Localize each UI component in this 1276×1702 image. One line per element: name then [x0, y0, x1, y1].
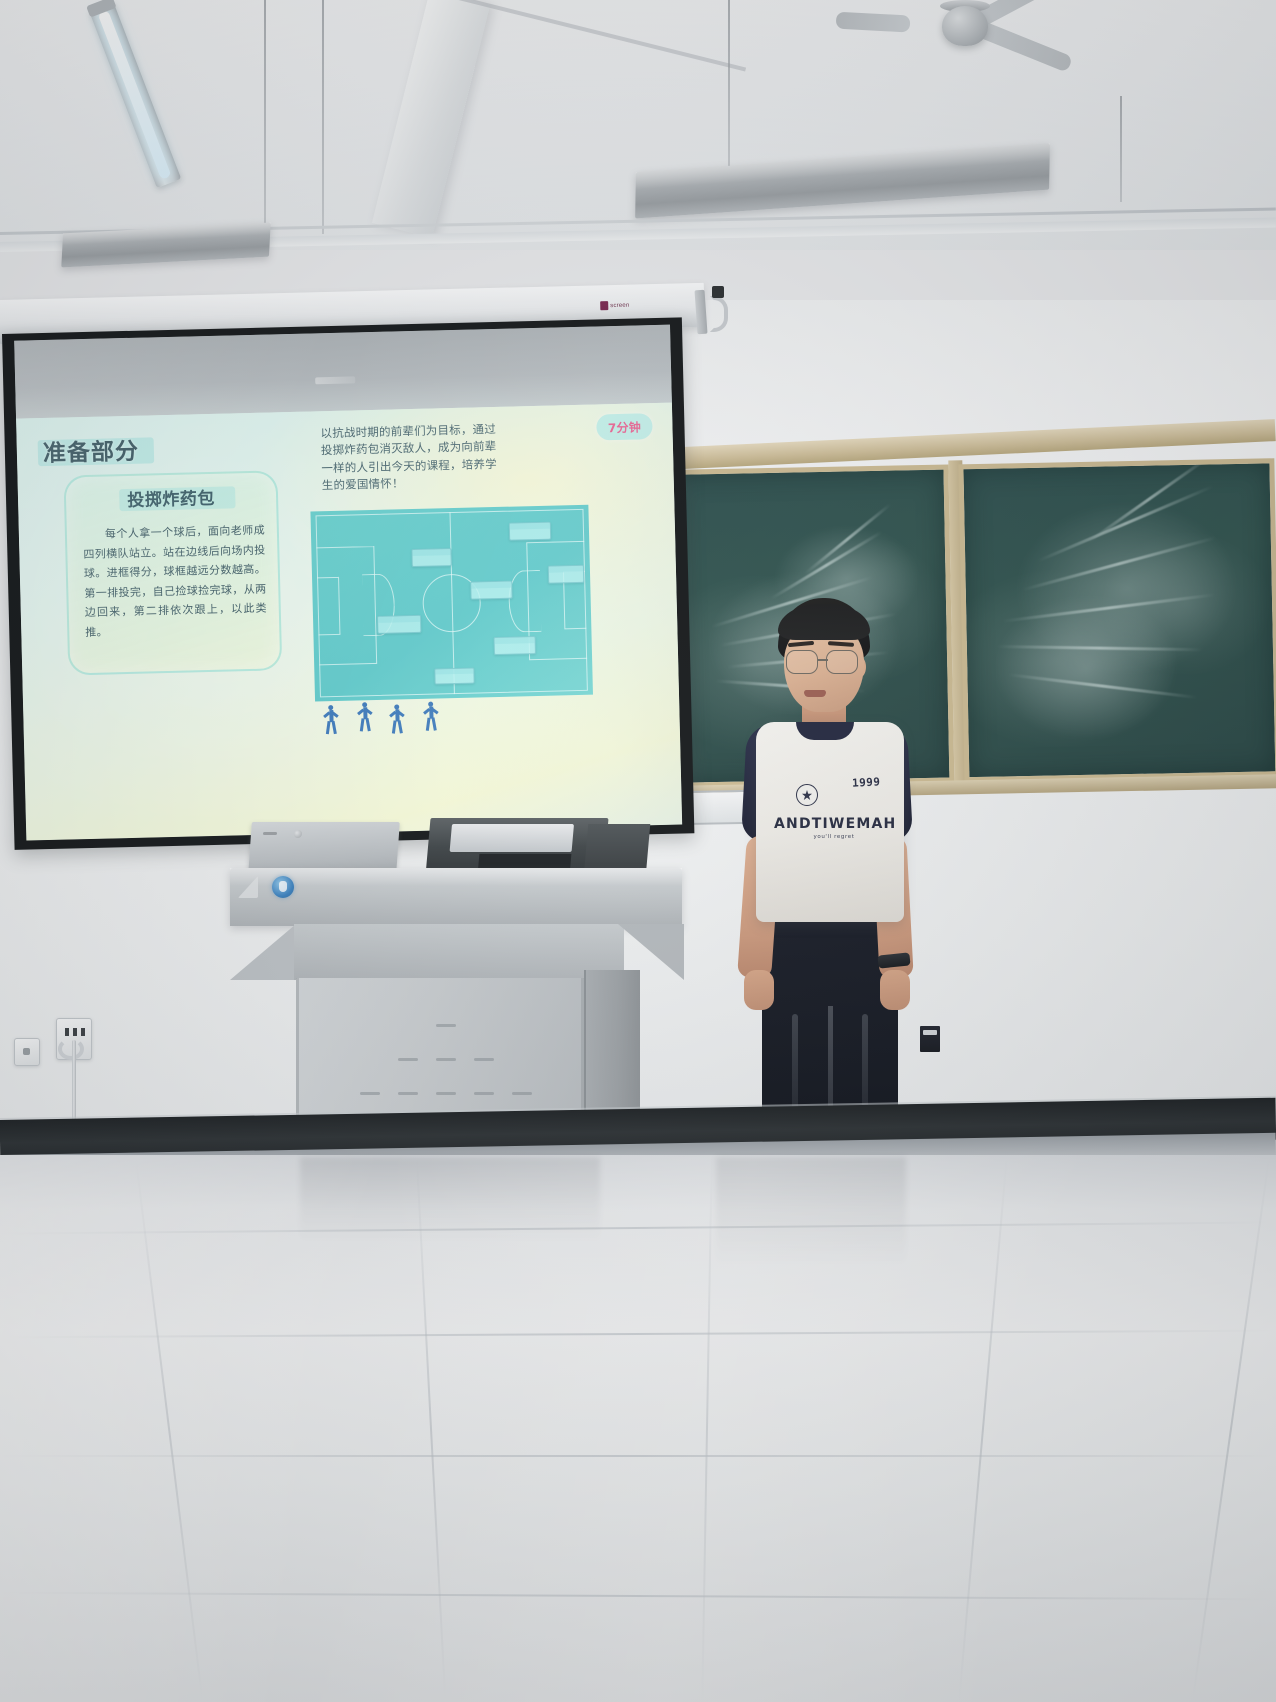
flip-up-monitor[interactable] — [248, 822, 400, 874]
target-box — [509, 522, 551, 541]
shirt-brand-subtext: you'll regret — [774, 834, 894, 840]
shirt-brand-text: ANDTIWEMAH — [774, 816, 894, 832]
tile-seam — [0, 1455, 1276, 1457]
screen-brand-logo: screen — [600, 300, 646, 310]
tile-seam — [958, 1156, 1007, 1701]
light-hanger-rod — [1120, 96, 1122, 202]
shirt-collar — [796, 722, 854, 740]
time-badge-label: 7分钟 — [608, 418, 642, 436]
chalk-smudge — [990, 591, 1183, 745]
power-cord-loop — [58, 1038, 84, 1060]
brand-mark-icon — [600, 301, 608, 310]
activity-card-title: 投掷炸药包 — [127, 484, 215, 511]
light-hanger-rod — [322, 0, 324, 234]
player-figure — [423, 701, 439, 731]
lectern-apron-left — [230, 924, 296, 980]
player-figure — [389, 704, 405, 734]
glasses-lens — [786, 650, 818, 674]
monitor-screw — [294, 830, 303, 838]
podium-logo — [272, 876, 294, 898]
bracket-arm — [694, 290, 707, 335]
bracket-hook — [710, 296, 728, 332]
card-body-text: 每个人拿一个球后，面向老师成四列横队站立。站在边线后向场内投球。进框得分，球框越… — [83, 521, 268, 643]
hand — [744, 970, 774, 1010]
player-figure — [323, 705, 339, 735]
player-figure — [357, 702, 373, 732]
ceiling-fan — [900, 0, 1120, 87]
soccer-pitch-diagram — [310, 505, 593, 702]
bracket-knob — [712, 286, 724, 298]
tile-seam — [701, 1155, 712, 1702]
presentation-slide: 准备部分 以抗战时期的前辈们为目标，通过投掷炸药包消灭敌人，成为向前辈一样的人引… — [16, 403, 682, 841]
wall-socket — [14, 1038, 40, 1066]
shirt-hem-tag — [920, 1026, 940, 1052]
shirt-chest-emblem-icon — [796, 784, 818, 806]
lectern-top-surface — [230, 868, 682, 926]
mouth — [804, 690, 826, 697]
activity-card: 投掷炸药包 每个人拿一个球后，面向老师成四列横队站立。站在边线后向场内投球。进框… — [63, 470, 282, 675]
lectern-corner-accent — [238, 876, 258, 898]
card-title-text: 投掷炸药包 — [127, 484, 215, 511]
slide-section-title: 准备部分 — [42, 432, 139, 468]
tile-seam — [135, 1157, 203, 1700]
tile-seam — [0, 1330, 1276, 1338]
lectern-top-sheen — [230, 868, 682, 886]
socket-screw — [23, 1048, 30, 1055]
light-hanger-rod — [264, 0, 266, 236]
lectern-reflection — [300, 1157, 600, 1243]
tile-floor — [0, 1155, 1276, 1702]
equipment-bay-panel — [450, 824, 574, 852]
blackboard — [958, 458, 1276, 782]
sleeve-number: 1999 — [852, 775, 881, 789]
projector-screen-surface: 准备部分 以抗战时期的前辈们为目标，通过投掷炸药包消灭敌人，成为向前辈一样的人引… — [14, 325, 682, 841]
target-box — [548, 565, 584, 584]
hand — [880, 970, 910, 1010]
lectern-apron-center — [294, 924, 624, 980]
glasses-bridge — [818, 659, 828, 661]
time-badge: 7分钟 — [596, 413, 653, 440]
target-box — [494, 636, 536, 655]
target-box — [470, 581, 512, 600]
player-figure-row — [323, 700, 454, 737]
tile-seam — [0, 1221, 1276, 1234]
target-box — [434, 668, 474, 685]
presenter-reflection — [716, 1157, 906, 1267]
slide-title-text: 准备部分 — [42, 432, 139, 468]
light-hanger-rod — [728, 0, 730, 168]
hair-fringe — [778, 604, 870, 640]
target-box — [411, 548, 451, 567]
fan-motor-hub — [942, 6, 988, 46]
eyeglasses — [782, 650, 868, 674]
pitch-goal-area — [317, 577, 340, 636]
tile-seam — [1192, 1158, 1270, 1700]
projector-screen: 准备部分 以抗战时期的前辈们为目标，通过投掷炸药包消灭敌人，成为向前辈一样的人引… — [2, 317, 694, 849]
pitch-penalty-arc — [508, 570, 542, 633]
outlet-slots — [63, 1028, 87, 1036]
slide-goal-text: 以抗战时期的前辈们为目标，通过投掷炸药包消灭敌人，成为向前辈一样的人引出今天的课… — [320, 421, 508, 495]
tile-seam — [0, 1592, 1276, 1600]
screen-mount-bracket — [690, 286, 734, 338]
glasses-lens — [826, 650, 858, 674]
brand-name: screen — [610, 302, 629, 308]
monitor-vent — [263, 832, 277, 835]
screen-band-mark — [315, 376, 355, 384]
classroom-photo-scene: screen 准备部分 以抗战时期的前辈们为目标，通过投掷炸药包消灭敌人，成为向… — [0, 0, 1276, 1702]
target-box — [377, 615, 421, 634]
